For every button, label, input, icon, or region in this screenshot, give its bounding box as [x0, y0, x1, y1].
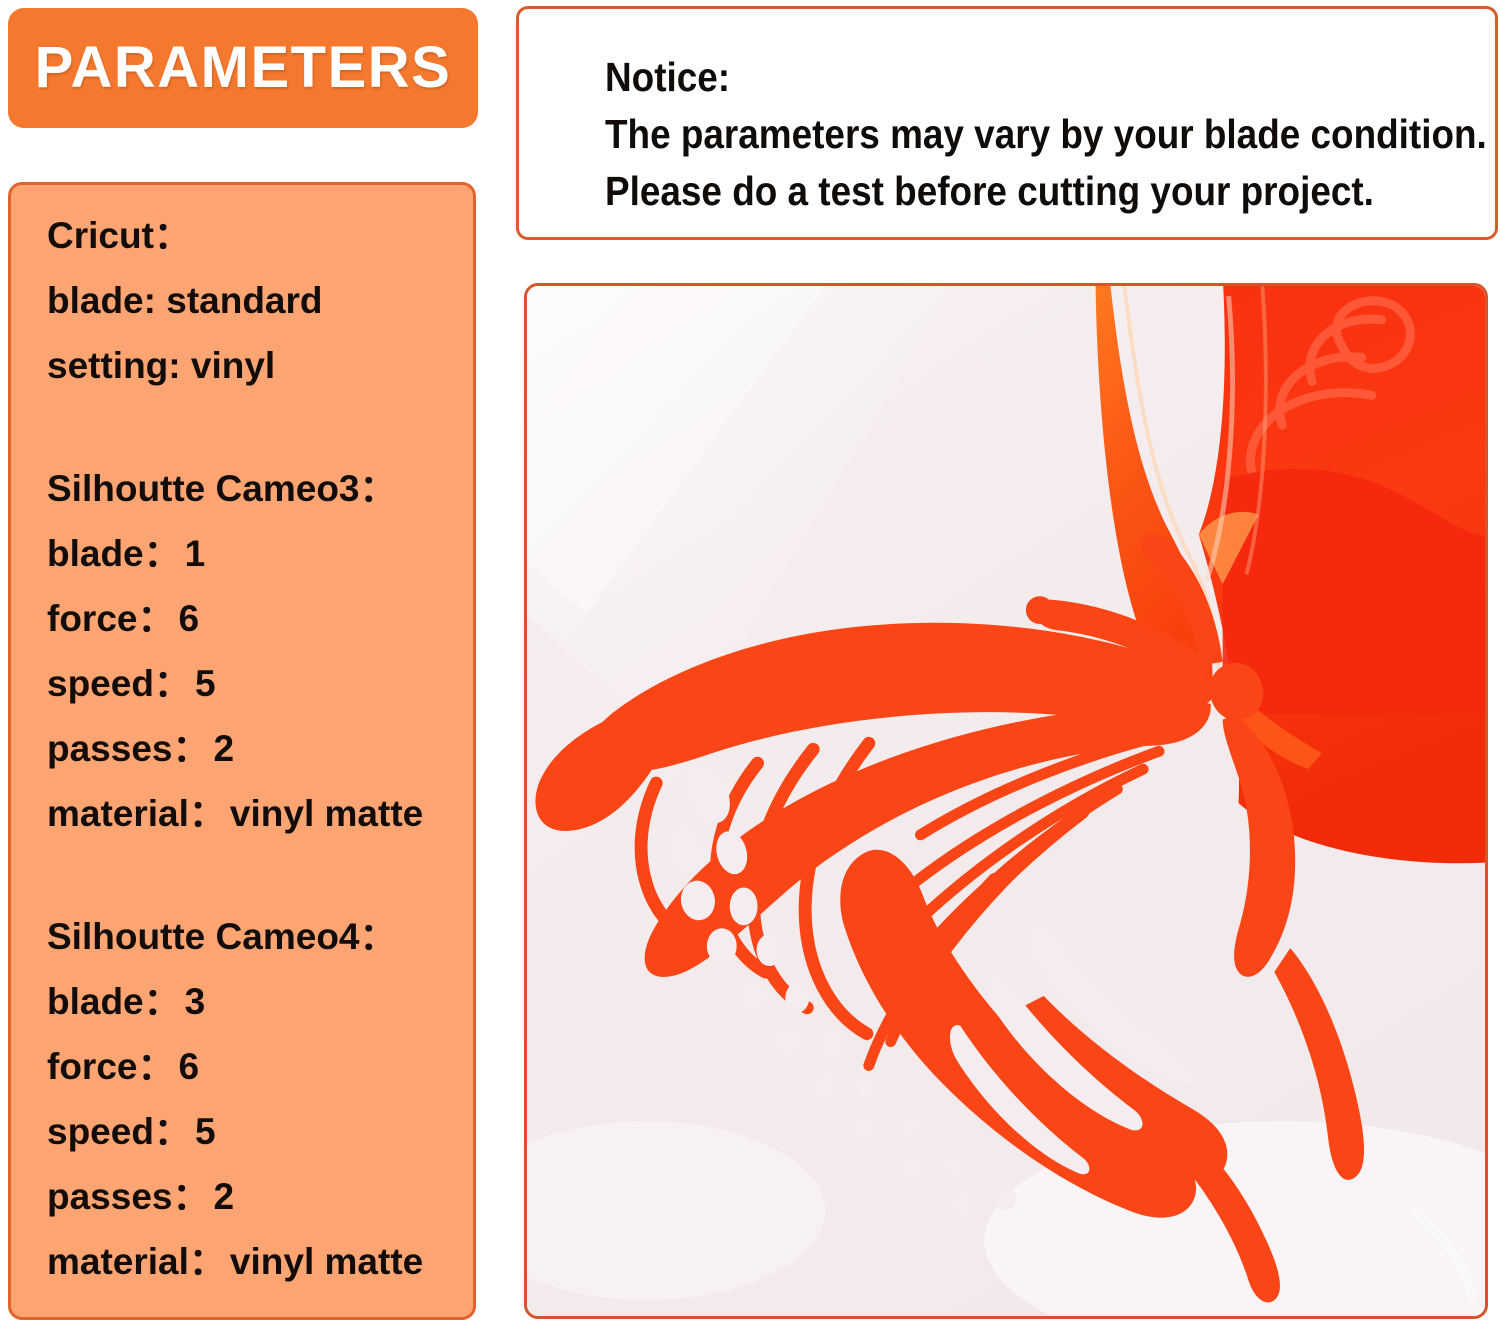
param-cameo4-speed-value: 5 [195, 1111, 216, 1152]
notice-line-2: Please do a test before cutting your pro… [605, 163, 1406, 220]
param-cameo3-blade: blade：1 [47, 521, 473, 586]
product-photo-frame [524, 283, 1488, 1319]
page-title: PARAMETERS [35, 39, 452, 97]
param-cameo3-speed: speed：5 [47, 651, 473, 716]
group-title-cricut: Cricut： [47, 203, 473, 268]
parameters-panel: Cricut： blade: standard setting: vinyl S… [8, 182, 476, 1320]
param-cameo4-force-label: force： [47, 1046, 174, 1087]
param-cameo4-material-label: material： [47, 1241, 226, 1282]
param-cameo3-force: force：6 [47, 586, 473, 651]
param-cricut-blade: blade: standard [47, 268, 473, 333]
param-cameo4-force-value: 6 [178, 1046, 199, 1087]
param-cameo3-passes-label: passes： [47, 728, 210, 769]
param-cameo3-material-value: vinyl matte [230, 793, 423, 834]
param-cameo4-passes-label: passes： [47, 1176, 210, 1217]
param-cameo3-material-label: material： [47, 793, 226, 834]
param-cameo3-speed-label: speed： [47, 663, 191, 704]
group-spacer-1 [47, 398, 473, 456]
param-cameo4-blade: blade：3 [47, 969, 473, 1034]
param-cameo4-force: force：6 [47, 1034, 473, 1099]
notice-box: Notice: The parameters may vary by your … [516, 6, 1498, 240]
param-cameo3-blade-value: 1 [185, 533, 206, 574]
notice-line-1: The parameters may vary by your blade co… [605, 106, 1406, 163]
param-cameo4-passes-value: 2 [214, 1176, 235, 1217]
param-cameo4-blade-value: 3 [185, 981, 206, 1022]
param-cameo4-speed: speed：5 [47, 1099, 473, 1164]
param-cameo4-blade-label: blade： [47, 981, 181, 1022]
param-cameo3-blade-label: blade： [47, 533, 181, 574]
butterfly-vinyl-photo [527, 286, 1485, 1316]
param-cameo3-speed-value: 5 [195, 663, 216, 704]
param-cameo4-passes: passes：2 [47, 1164, 473, 1229]
param-cameo4-material: material：vinyl matte [47, 1229, 473, 1294]
param-cricut-setting: setting: vinyl [47, 333, 473, 398]
left-column: PARAMETERS Cricut： blade: standard setti… [0, 0, 500, 1334]
right-column: Notice: The parameters may vary by your … [500, 0, 1500, 1334]
param-cameo4-speed-label: speed： [47, 1111, 191, 1152]
param-cameo3-force-value: 6 [178, 598, 199, 639]
param-cameo3-passes: passes：2 [47, 716, 473, 781]
group-title-cameo3: Silhoutte Cameo3： [47, 456, 473, 521]
notice-heading: Notice: [605, 49, 1406, 106]
parameters-header-banner: PARAMETERS [8, 8, 478, 128]
group-title-cameo4: Silhoutte Cameo4： [47, 904, 473, 969]
param-cameo4-material-value: vinyl matte [230, 1241, 423, 1282]
param-cameo3-force-label: force： [47, 598, 174, 639]
group-spacer-2 [47, 846, 473, 904]
param-cameo3-passes-value: 2 [214, 728, 235, 769]
param-cameo3-material: material：vinyl matte [47, 781, 473, 846]
